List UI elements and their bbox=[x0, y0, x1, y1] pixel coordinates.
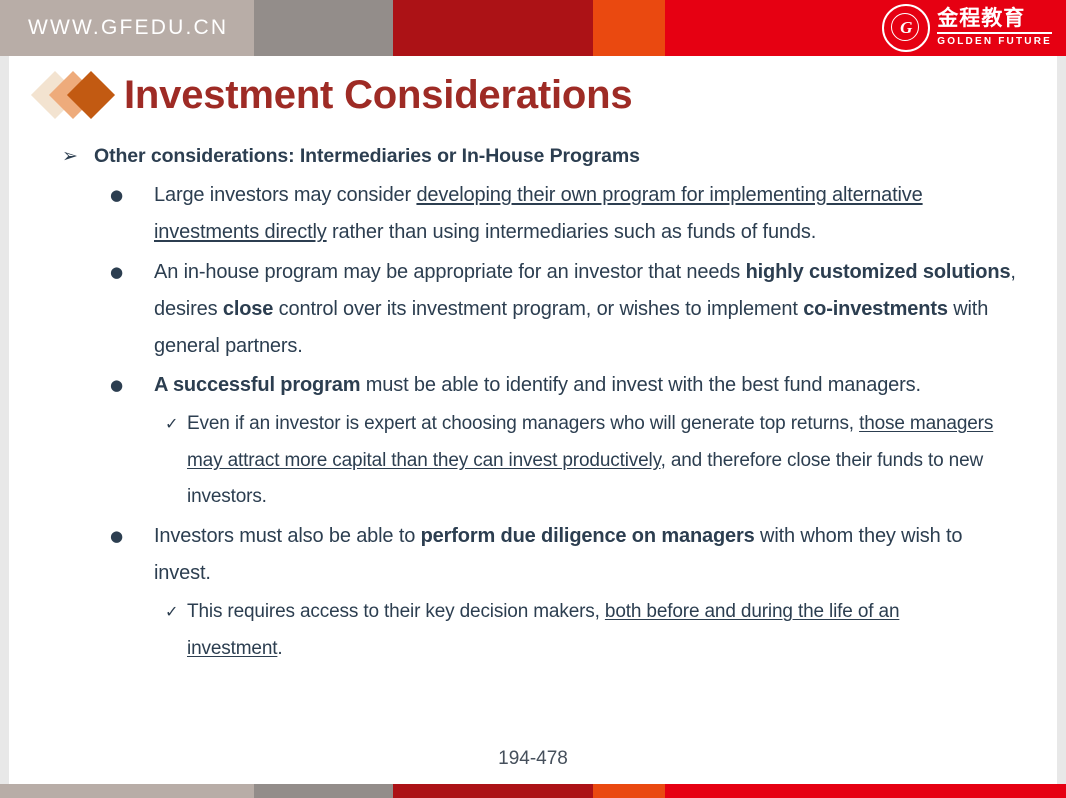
text-run: perform due diligence on managers bbox=[421, 525, 755, 547]
logo-english-name: GOLDEN FUTURE bbox=[937, 34, 1052, 48]
list-item: ●A successful program must be able to id… bbox=[0, 367, 1066, 404]
text-run: co-investments bbox=[803, 298, 948, 320]
logo-emblem-letter: G bbox=[884, 6, 928, 50]
text-run: must be able to identify and invest with… bbox=[360, 374, 921, 396]
list-item: ●Large investors may consider developing… bbox=[0, 177, 1066, 251]
list-item-text: Even if an investor is expert at choosin… bbox=[187, 406, 996, 515]
logo-chinese-name: 金程教育 bbox=[937, 8, 1052, 33]
text-run: control over its investment program, or … bbox=[273, 298, 803, 320]
slide: WWW.GFEDU.CN G 金程教育 GOLDEN FUTURE Invest… bbox=[0, 0, 1066, 798]
footer-segment-dark-red bbox=[393, 784, 593, 798]
website-url: WWW.GFEDU.CN bbox=[0, 16, 228, 40]
check-bullet-icon: ✓ bbox=[165, 594, 187, 667]
dot-bullet-icon: ● bbox=[110, 518, 154, 592]
footer-segment-orange bbox=[593, 784, 665, 798]
header-segment-orange bbox=[593, 0, 665, 56]
list-item: ●Investors must also be able to perform … bbox=[0, 518, 1066, 592]
list-item-text: An in-house program may be appropriate f… bbox=[154, 254, 1018, 366]
dot-bullet-icon: ● bbox=[110, 367, 154, 404]
text-run: close bbox=[223, 298, 273, 320]
list-item: ✓This requires access to their key decis… bbox=[0, 594, 1066, 667]
text-run: A successful program bbox=[154, 374, 360, 396]
brand-logo: G 金程教育 GOLDEN FUTURE bbox=[882, 5, 1052, 51]
title-row: Investment Considerations bbox=[36, 66, 632, 124]
dot-bullet-icon: ● bbox=[110, 177, 154, 251]
text-run: This requires access to their key decisi… bbox=[187, 601, 605, 622]
list-item: ✓Even if an investor is expert at choosi… bbox=[0, 406, 1066, 515]
logo-text: 金程教育 GOLDEN FUTURE bbox=[937, 8, 1052, 47]
slide-body: ➢ Other considerations: Intermediaries o… bbox=[0, 142, 1066, 669]
text-run: . bbox=[277, 638, 282, 659]
footer-color-bar bbox=[0, 784, 1066, 798]
footer-segment-taupe bbox=[0, 784, 254, 798]
bullet-list: ●Large investors may consider developing… bbox=[0, 177, 1066, 667]
text-run: Investors must also be able to bbox=[154, 525, 421, 547]
text-run: Even if an investor is expert at choosin… bbox=[187, 413, 859, 434]
page-title: Investment Considerations bbox=[124, 73, 632, 118]
footer-segment-red bbox=[665, 784, 1066, 798]
footer-segment-gray bbox=[254, 784, 393, 798]
check-bullet-icon: ✓ bbox=[165, 406, 187, 515]
logo-emblem-icon: G bbox=[882, 4, 930, 52]
list-item-text: A successful program must be able to ide… bbox=[154, 367, 1018, 404]
list-item: ●An in-house program may be appropriate … bbox=[0, 254, 1066, 366]
list-item-text: This requires access to their key decisi… bbox=[187, 594, 996, 667]
header-segment-gray bbox=[254, 0, 393, 56]
website-banner: WWW.GFEDU.CN bbox=[0, 0, 254, 56]
list-item-text: Investors must also be able to perform d… bbox=[154, 518, 1018, 592]
text-run: rather than using intermediaries such as… bbox=[327, 221, 817, 243]
heading-bullet: ➢ Other considerations: Intermediaries o… bbox=[0, 142, 1066, 171]
arrow-bullet-icon: ➢ bbox=[62, 142, 94, 171]
heading-text: Other considerations: Intermediaries or … bbox=[94, 142, 640, 171]
text-run: Large investors may consider bbox=[154, 184, 416, 206]
page-number: 194-478 bbox=[0, 748, 1066, 770]
list-item-text: Large investors may consider developing … bbox=[154, 177, 1018, 251]
text-run: highly customized solutions bbox=[746, 261, 1011, 283]
diamond-decoration-icon bbox=[36, 66, 120, 124]
dot-bullet-icon: ● bbox=[110, 254, 154, 366]
header-segment-dark-red bbox=[393, 0, 593, 56]
text-run: An in-house program may be appropriate f… bbox=[154, 261, 746, 283]
